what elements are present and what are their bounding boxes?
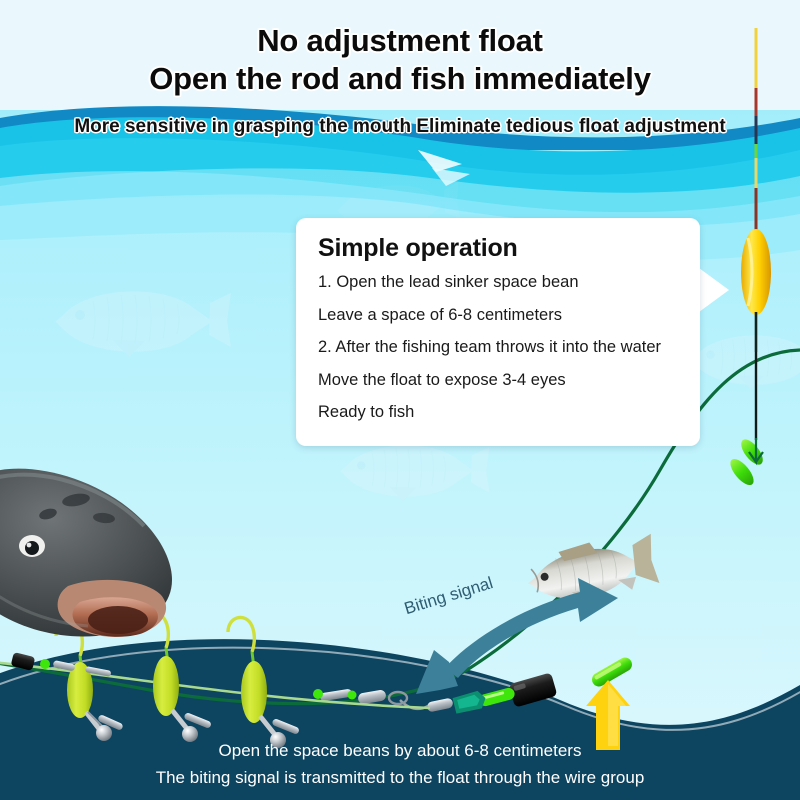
oval-float-2 <box>153 656 179 716</box>
card-title: Simple operation <box>318 234 678 263</box>
card-pointer-tail <box>699 268 729 312</box>
card-step-2-detail: Move the float to expose 3-4 eyes <box>318 372 678 389</box>
card-step-2: 2. After the fishing team throws it into… <box>318 339 678 356</box>
simple-operation-card: Simple operation 1. Open the lead sinker… <box>296 218 700 446</box>
oval-float-3 <box>241 661 267 723</box>
small-green-stop-b <box>348 691 357 700</box>
footer-line-2: The biting signal is transmitted to the … <box>0 764 800 791</box>
footer-line-1: Open the space beans by about 6-8 centim… <box>0 737 800 764</box>
card-step-1-detail: Leave a space of 6-8 centimeters <box>318 307 678 324</box>
small-green-stop-a <box>313 689 323 699</box>
infographic-canvas: No adjustment float Open the rod and fis… <box>0 0 800 800</box>
fishing-float-body <box>741 229 771 315</box>
footer-captions: Open the space beans by about 6-8 centim… <box>0 737 800 791</box>
float-antenna-seg-yellow <box>755 158 758 188</box>
title-line-2: Open the rod and fish immediately <box>0 60 800 98</box>
title-line-1: No adjustment float <box>0 22 800 60</box>
card-step-1: 1. Open the lead sinker space bean <box>318 274 678 291</box>
header-subtitle: More sensitive in grasping the mouth Eli… <box>0 116 800 138</box>
header-titles: No adjustment float Open the rod and fis… <box>0 22 800 98</box>
card-step-ready: Ready to fish <box>318 404 678 421</box>
float-antenna-seg-green <box>755 144 758 158</box>
